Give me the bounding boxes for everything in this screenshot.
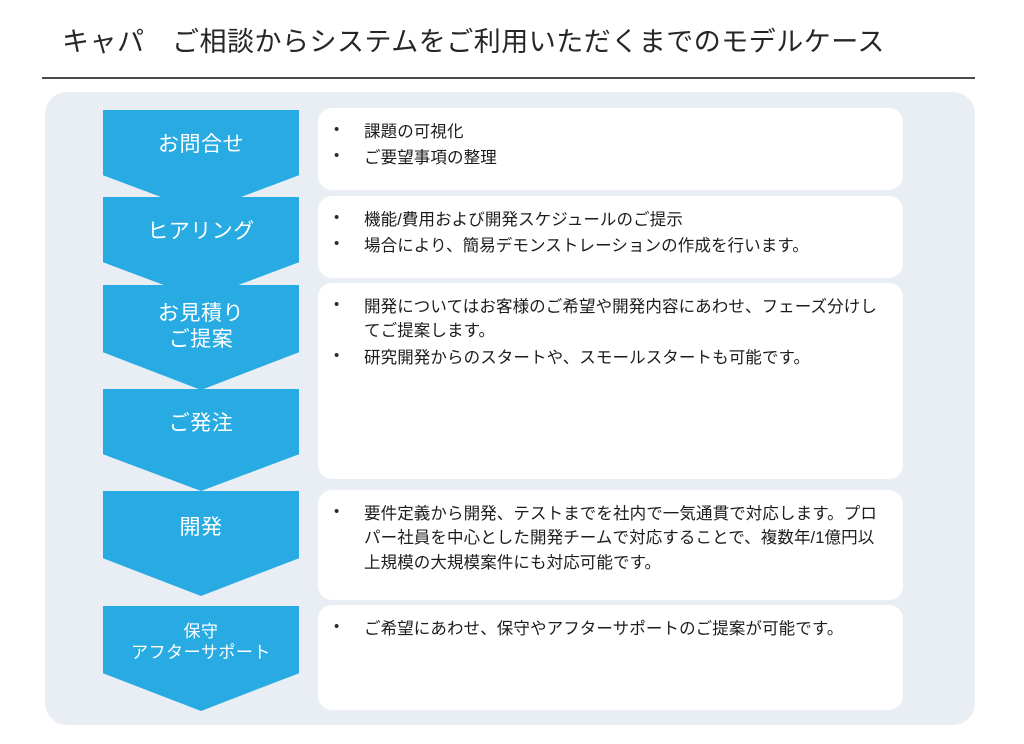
step-chevron-inquiry[interactable]: お問合せ xyxy=(103,110,299,212)
list-item: 開発についてはお客様のご希望や開発内容にあわせ、フェーズ分けしてご提案します。 xyxy=(326,295,887,344)
bullet-list: 開発についてはお客様のご希望や開発内容にあわせ、フェーズ分けしてご提案します。 … xyxy=(326,295,887,370)
bullet-list: 課題の可視化 ご要望事項の整理 xyxy=(326,120,887,171)
list-item: 機能/費用および開発スケジュールのご提示 xyxy=(326,208,887,232)
step-card-development: 要件定義から開発、テストまでを社内で一気通貫で対応します。プロパー社員を中心とし… xyxy=(318,490,903,600)
list-item: 課題の可視化 xyxy=(326,120,887,144)
step-card-inquiry: 課題の可視化 ご要望事項の整理 xyxy=(318,108,903,190)
step-card-maintenance: ご希望にあわせ、保守やアフターサポートのご提案が可能です。 xyxy=(318,605,903,710)
step-chevron-maintenance[interactable]: 保守 アフターサポート xyxy=(103,606,299,711)
step-label: 保守 アフターサポート xyxy=(103,622,299,663)
step-chevron-development[interactable]: 開発 xyxy=(103,491,299,596)
step-label: ヒアリング xyxy=(103,219,299,245)
step-label: お見積り ご提案 xyxy=(103,301,299,352)
bullet-list: ご希望にあわせ、保守やアフターサポートのご提案が可能です。 xyxy=(326,617,887,641)
list-item: 要件定義から開発、テストまでを社内で一気通貫で対応します。プロパー社員を中心とし… xyxy=(326,502,887,575)
step-chevron-quotation[interactable]: お見積り ご提案 xyxy=(103,285,299,390)
step-label: 開発 xyxy=(103,515,299,541)
process-flow: お問合せ 課題の可視化 ご要望事項の整理 ヒアリング 機能/費用および開発スケジ… xyxy=(0,0,1024,744)
step-card-quotation: 開発についてはお客様のご希望や開発内容にあわせ、フェーズ分けしてご提案します。 … xyxy=(318,283,903,479)
list-item: ご要望事項の整理 xyxy=(326,146,887,170)
list-item: 場合により、簡易デモンストレーションの作成を行います。 xyxy=(326,234,887,258)
step-chevron-order[interactable]: ご発注 xyxy=(103,389,299,491)
step-label: お問合せ xyxy=(103,132,299,158)
step-label: ご発注 xyxy=(103,411,299,437)
list-item: ご希望にあわせ、保守やアフターサポートのご提案が可能です。 xyxy=(326,617,887,641)
list-item: 研究開発からのスタートや、スモールスタートも可能です。 xyxy=(326,346,887,370)
bullet-list: 要件定義から開発、テストまでを社内で一気通貫で対応します。プロパー社員を中心とし… xyxy=(326,502,887,575)
step-chevron-hearing[interactable]: ヒアリング xyxy=(103,197,299,299)
step-card-hearing: 機能/費用および開発スケジュールのご提示 場合により、簡易デモンストレーションの… xyxy=(318,196,903,278)
bullet-list: 機能/費用および開発スケジュールのご提示 場合により、簡易デモンストレーションの… xyxy=(326,208,887,259)
